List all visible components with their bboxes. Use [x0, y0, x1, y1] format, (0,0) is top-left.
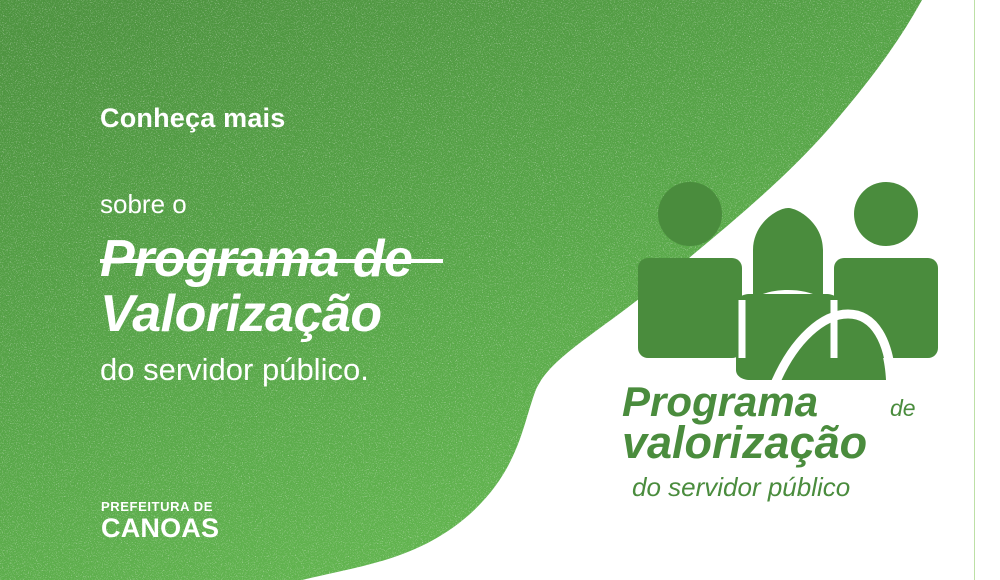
tagline-text: do servidor público.: [100, 343, 530, 387]
promo-banner: Conheça mais sobre o Programa de Valoriz…: [0, 0, 1000, 580]
headline-block: Conheça mais sobre o Programa de Valoriz…: [100, 104, 530, 387]
divider-rule: [100, 259, 443, 263]
programa-valorizacao-logo: Programa de valorização do servidor públ…: [615, 180, 960, 508]
prefeitura-label: PREFEITURA DE: [101, 500, 219, 513]
title-line-2: Valorização: [100, 287, 530, 342]
right-edge-rule: [974, 0, 975, 580]
logo-wordmark: Programa de valorização do servidor públ…: [618, 376, 958, 508]
kicker-text: Conheça mais: [100, 104, 530, 134]
canoas-label: CANOAS: [101, 515, 219, 542]
three-people-handshake-icon: [628, 180, 948, 380]
logo-line-3: do servidor público: [632, 472, 850, 502]
page-title: Programa de Valorização: [100, 218, 530, 342]
logo-line-2: valorização: [622, 417, 867, 468]
subline-text: sobre o: [100, 134, 530, 219]
prefeitura-canoas-logo: PREFEITURA DE CANOAS: [101, 500, 219, 542]
logo-line-1-small: de: [890, 395, 916, 421]
